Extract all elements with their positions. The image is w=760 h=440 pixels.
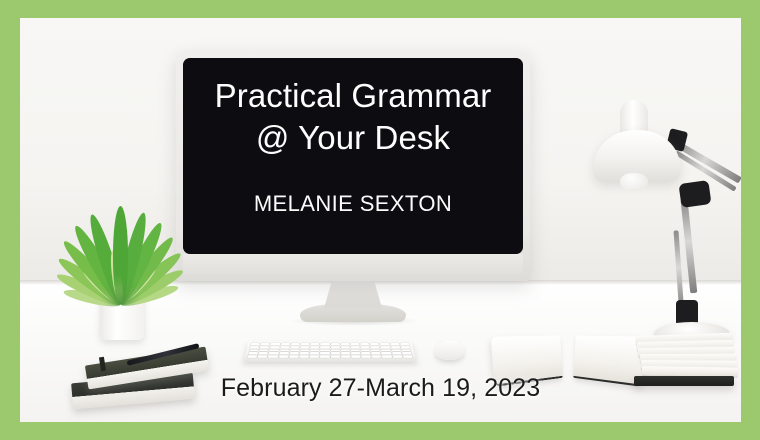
keyboard-key (300, 346, 309, 348)
keyboard-key (392, 352, 402, 354)
slide-presenter-name: MELANIE SEXTON (254, 191, 452, 217)
keyboard-key (371, 346, 380, 348)
keyboard-key (381, 346, 390, 348)
keyboard-key (351, 349, 360, 351)
keyboard-key (268, 355, 278, 357)
keyboard-key (259, 349, 269, 351)
keyboard-key (258, 355, 268, 357)
keyboard-key (289, 355, 299, 357)
monitor-screen: Practical Grammar @ Your Desk MELANIE SE… (183, 58, 523, 254)
desk-lamp (580, 78, 740, 348)
book-stack-cover (634, 376, 734, 386)
keyboard-key (402, 352, 412, 354)
monitor-stand-neck (324, 280, 382, 308)
keyboard-key (341, 346, 350, 348)
stacked-notebooks (68, 350, 223, 418)
keyboard-key (331, 352, 340, 354)
slide-title: Practical Grammar @ Your Desk (215, 75, 492, 159)
keyboard-key (260, 346, 270, 348)
keyboard-key (391, 346, 401, 348)
keyboard (243, 341, 417, 362)
keyboard-key (269, 349, 279, 351)
slide-title-line-2: @ Your Desk (215, 117, 492, 159)
keyboard-key (361, 355, 371, 357)
keyboard-key (372, 355, 382, 357)
keyboard-key (401, 346, 411, 348)
keyboard-key (351, 355, 361, 357)
keyboard-key (320, 355, 329, 357)
keyboard-key (310, 346, 319, 348)
keyboard-key (289, 352, 298, 354)
open-book (493, 336, 645, 388)
keyboard-key (248, 352, 258, 354)
keyboard-key (390, 343, 399, 345)
keyboard-key (310, 355, 319, 357)
keyboard-key (361, 352, 370, 354)
keyboard-key (340, 343, 349, 345)
keyboard-key (279, 355, 289, 357)
slide-content: Practical Grammar @ Your Desk MELANIE SE… (183, 58, 523, 254)
keyboard-key (311, 343, 320, 345)
keyboard-key-row (249, 349, 411, 351)
keyboard-key (290, 346, 299, 348)
keyboard-key (310, 349, 319, 351)
keyboard-key-row (247, 355, 412, 357)
keyboard-key (251, 343, 260, 345)
keyboard-key (341, 352, 350, 354)
keyboard-key (301, 343, 310, 345)
keyboard-key (401, 349, 411, 351)
keyboard-key (280, 349, 289, 351)
keyboard-key (381, 349, 391, 351)
keyboard-key (300, 349, 309, 351)
keyboard-key (249, 349, 259, 351)
keyboard-key (281, 343, 290, 345)
keyboard-key (320, 349, 329, 351)
keyboard-key (403, 355, 413, 357)
keyboard-key (271, 343, 280, 345)
keyboard-key (330, 349, 339, 351)
keyboard-key (290, 349, 299, 351)
keyboard-key (247, 355, 257, 357)
slide-title-line-1: Practical Grammar (215, 75, 492, 117)
keyboard-key (341, 349, 350, 351)
keyboard-key (371, 352, 381, 354)
keyboard-key (320, 343, 329, 345)
keyboard-keys (247, 343, 412, 358)
keyboard-key (361, 346, 370, 348)
lamp-joint-middle (678, 180, 711, 208)
keyboard-key (280, 346, 289, 348)
keyboard-key (330, 343, 339, 345)
keyboard-key (270, 346, 279, 348)
open-book-left-page (491, 335, 563, 386)
keyboard-key-row (250, 346, 410, 348)
keyboard-key (310, 352, 319, 354)
keyboard-key (361, 349, 370, 351)
lamp-lower-arm (681, 199, 698, 293)
fern-frond (113, 206, 128, 304)
keyboard-key (259, 352, 269, 354)
lamp-bulb (620, 173, 648, 191)
keyboard-key (382, 355, 392, 357)
keyboard-key (250, 346, 260, 348)
keyboard-key (371, 349, 380, 351)
poster: Practical Grammar @ Your Desk MELANIE SE… (0, 0, 760, 440)
book-stack (636, 336, 732, 388)
desktop-monitor: Practical Grammar @ Your Desk MELANIE SE… (176, 51, 530, 281)
keyboard-key (330, 346, 339, 348)
keyboard-key (320, 352, 329, 354)
keyboard-key (341, 355, 350, 357)
keyboard-key (350, 343, 359, 345)
keyboard-key (351, 352, 360, 354)
keyboard-key-row (251, 343, 410, 345)
keyboard-key (261, 343, 270, 345)
keyboard-key (382, 352, 392, 354)
keyboard-key (269, 352, 279, 354)
keyboard-key (351, 346, 360, 348)
keyboard-key (291, 343, 300, 345)
keyboard-key (331, 355, 340, 357)
desk-scene-photo: Practical Grammar @ Your Desk MELANIE SE… (20, 18, 741, 422)
keyboard-key (391, 349, 401, 351)
keyboard-key (360, 343, 369, 345)
keyboard-key (279, 352, 289, 354)
keyboard-key (380, 343, 389, 345)
notebook-elastic-strap (99, 357, 106, 372)
keyboard-key (400, 343, 409, 345)
keyboard-key (370, 343, 379, 345)
mouse (435, 340, 464, 360)
keyboard-key (300, 352, 309, 354)
monitor-chin (183, 254, 523, 274)
keyboard-key (320, 346, 329, 348)
keyboard-key-row (248, 352, 412, 354)
keyboard-key (299, 355, 309, 357)
keyboard-key (392, 355, 402, 357)
